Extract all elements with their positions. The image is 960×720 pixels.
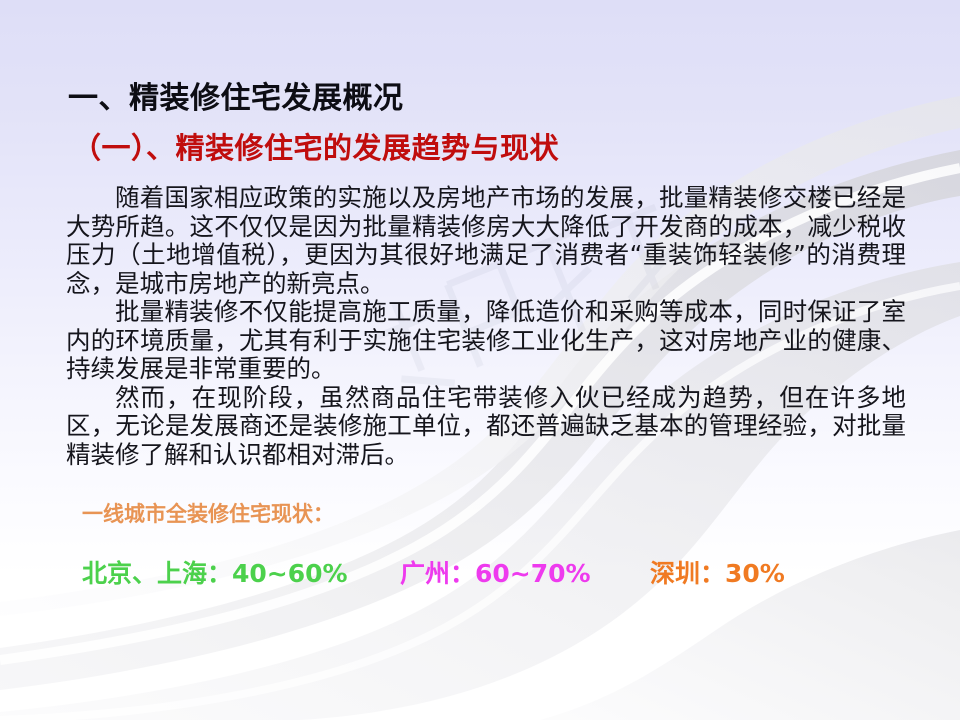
page-title: 一、精装修住宅发展概况 [68,73,404,117]
stat-beijing-shanghai: 北京、上海：40~60% [82,554,348,590]
section-subtitle: （一）、精装修住宅的发展趋势与现状 [72,125,559,167]
paragraph: 随着国家相应政策的实施以及房地产市场的发展，批量精装修交楼已经是大势所趋。这不仅… [66,184,906,298]
paragraph: 批量精装修不仅能提高施工质量，降低造价和采购等成本，同时保证了室内的环境质量，尤… [66,298,906,384]
body-text-block: 随着国家相应政策的实施以及房地产市场的发展，批量精装修交楼已经是大势所趋。这不仅… [66,184,906,469]
slide-content: 一、精装修住宅发展概况 （一）、精装修住宅的发展趋势与现状 随着国家相应政策的实… [0,0,960,720]
stat-shenzhen: 深圳：30% [650,554,785,590]
stats-label: 一线城市全装修住宅现状： [82,498,334,528]
paragraph: 然而，在现阶段，虽然商品住宅带装修入伙已经成为趋势，但在许多地区，无论是发展商还… [66,384,906,470]
stat-guangzhou: 广州：60~70% [400,554,591,590]
city-stats-row: 北京、上海：40~60% 广州：60~70% 深圳：30% [82,554,882,590]
slide-canvas: 一、精装修住宅发展概况 （一）、精装修住宅的发展趋势与现状 随着国家相应政策的实… [0,0,960,720]
